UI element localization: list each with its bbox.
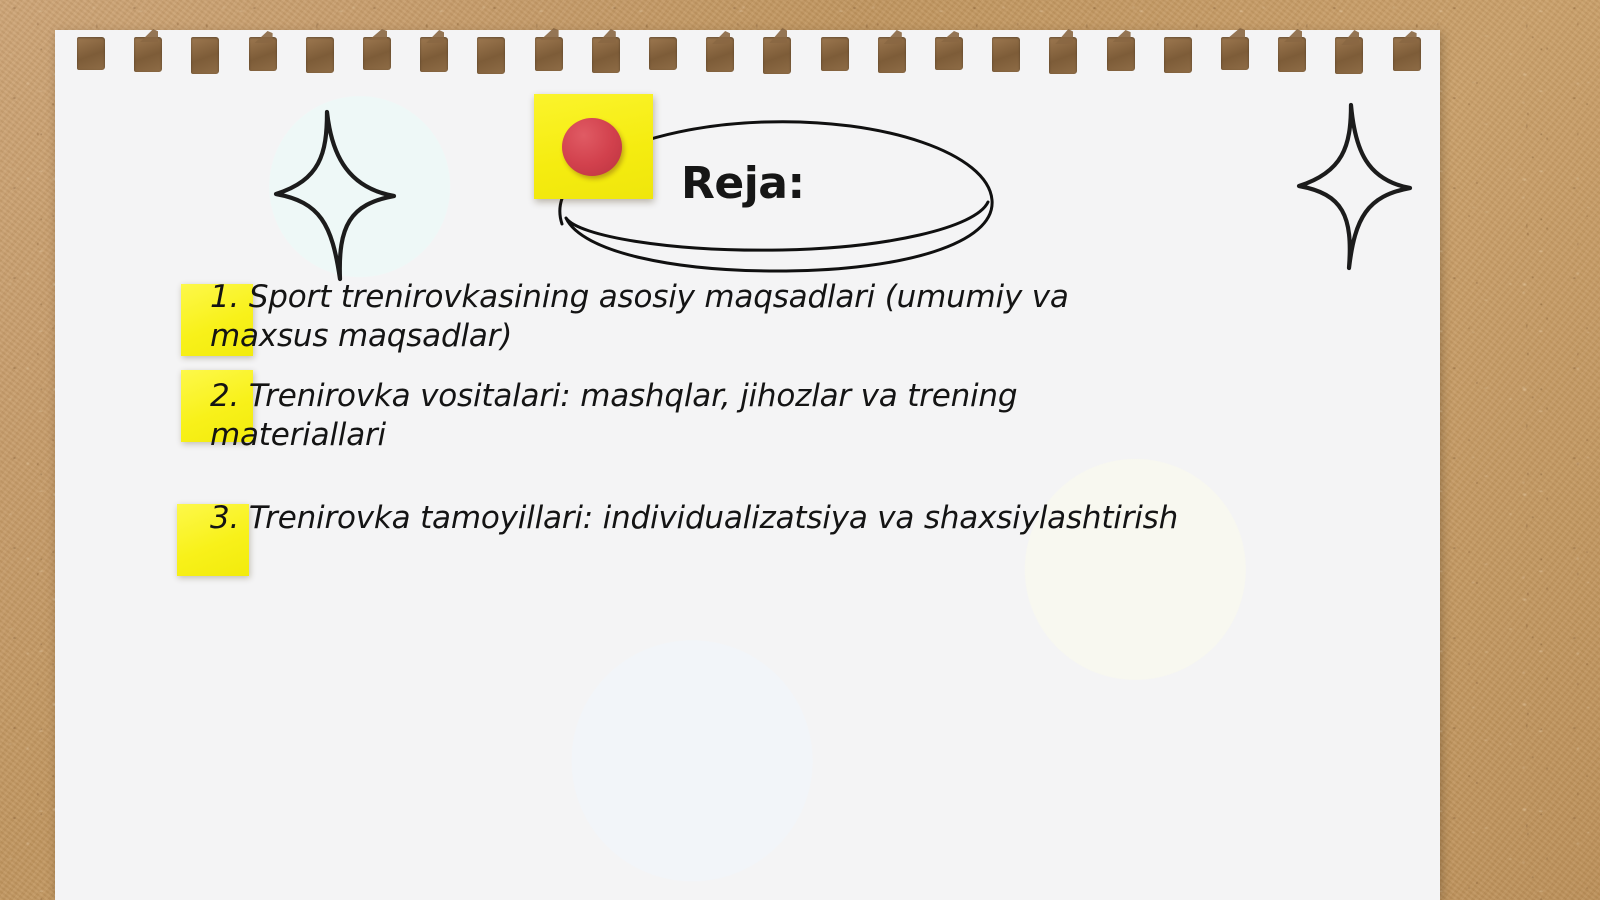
binding-hole	[1164, 37, 1192, 73]
binding-hole	[477, 37, 505, 74]
plan-item-text-1: 1. Sport trenirovkasining asosiy maqsadl…	[55, 278, 1440, 357]
binding-tab	[1284, 29, 1302, 42]
binding-tab	[140, 29, 158, 42]
binding-hole	[363, 37, 391, 70]
binding-hole	[134, 37, 162, 72]
binding-hole	[306, 37, 334, 73]
binding-tab	[769, 28, 787, 43]
cork-board-background: Reja: 1. Sport trenirovkasining asosiy m…	[0, 0, 1600, 900]
page-title: Reja:	[681, 162, 805, 206]
binding-hole	[649, 37, 677, 70]
binding-hole	[191, 37, 219, 74]
sparkle-star-icon-left	[268, 108, 398, 283]
binding-hole	[77, 37, 105, 70]
binding-hole	[1278, 37, 1306, 72]
notepad-sheet: Reja: 1. Sport trenirovkasining asosiy m…	[55, 30, 1440, 900]
binding-tab	[541, 28, 559, 40]
list-item: 3. Trenirovka tamoyillari: individualiza…	[55, 499, 1440, 538]
binding-hole	[1107, 37, 1135, 71]
binding-hole	[821, 37, 849, 71]
binding-hole	[535, 37, 563, 71]
list-item: 1. Sport trenirovkasining asosiy maqsadl…	[55, 278, 1440, 357]
sticky-note[interactable]	[534, 94, 653, 199]
spiral-binding	[55, 30, 1440, 82]
plan-item-text-2: 2. Trenirovka vositalari: mashqlar, jiho…	[55, 377, 1440, 456]
list-item: 2. Trenirovka vositalari: mashqlar, jiho…	[55, 377, 1440, 456]
binding-tab	[1227, 28, 1245, 39]
binding-hole	[992, 37, 1020, 72]
plan-item-text-3: 3. Trenirovka tamoyillari: individualiza…	[55, 499, 1440, 538]
binding-tab	[598, 29, 616, 43]
binding-tab	[369, 29, 387, 40]
binding-tab	[1113, 30, 1131, 42]
plan-list: 1. Sport trenirovkasining asosiy maqsadl…	[55, 278, 1440, 553]
sparkle-star-icon-right	[1283, 102, 1413, 272]
red-pin-icon	[562, 118, 622, 176]
binding-hole	[1221, 37, 1249, 70]
